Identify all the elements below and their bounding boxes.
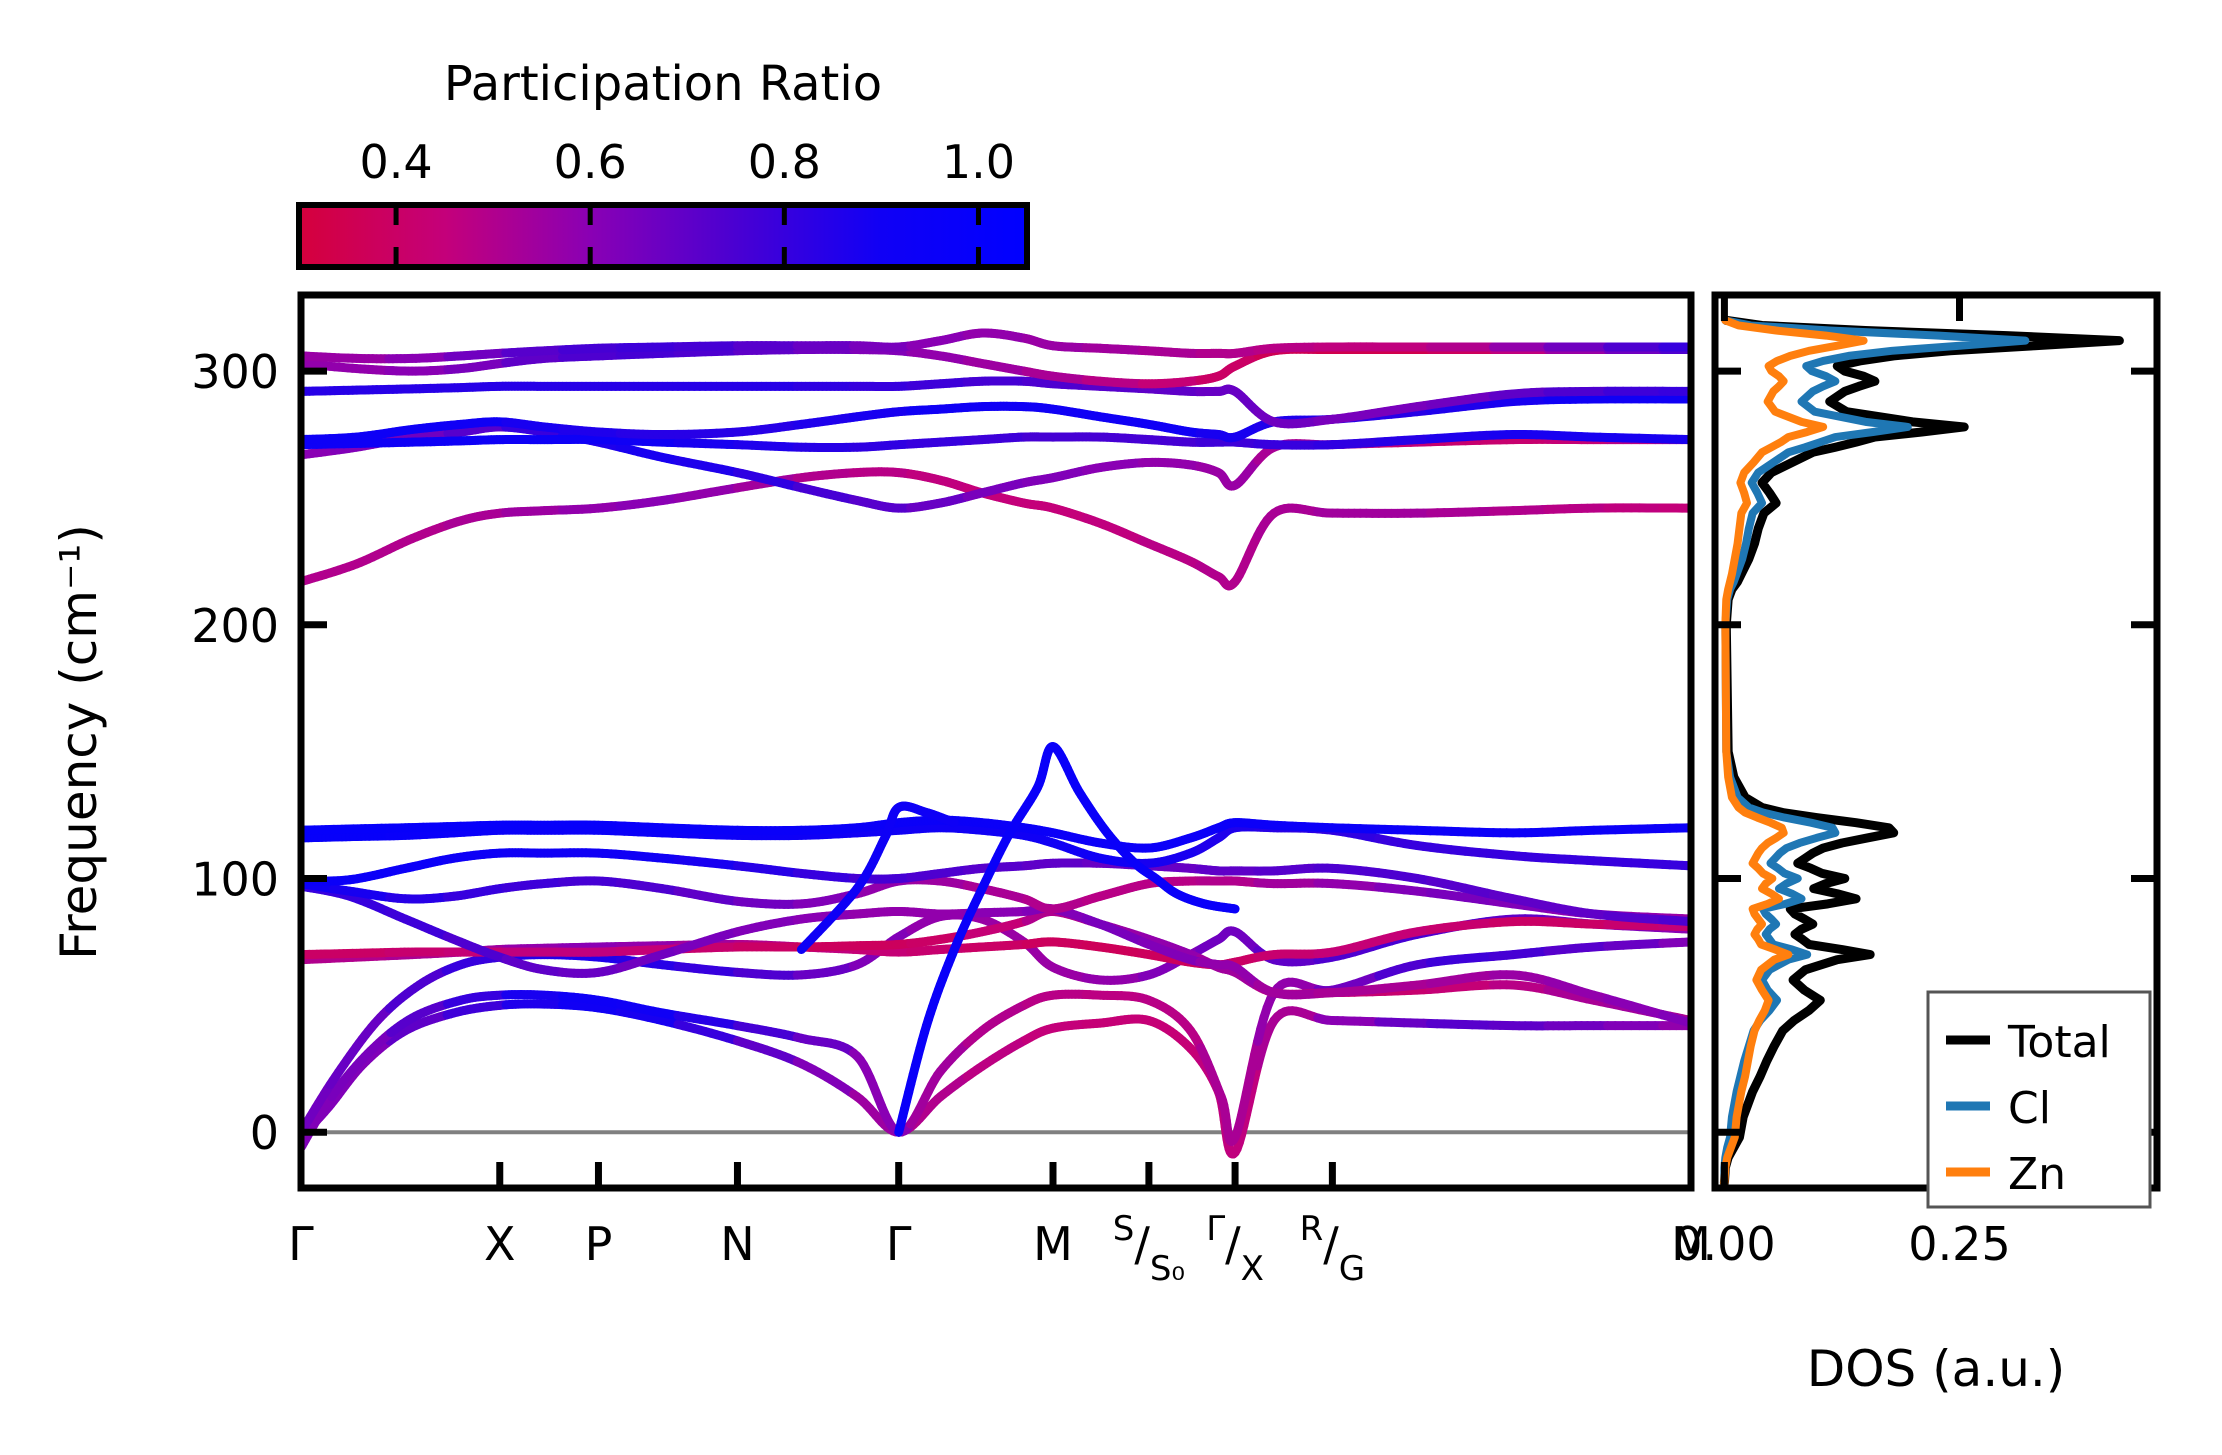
figure-root: Participation Ratio 0.40.60.81.0 0100200… — [0, 0, 2222, 1455]
colorbar-tick-label: 0.4 — [359, 135, 432, 189]
colorbar-tick-label: 0.6 — [554, 135, 627, 189]
colorbar-gradient — [299, 205, 1027, 267]
colorbar-tick-label: 0.8 — [748, 135, 821, 189]
colorbar-title: Participation Ratio — [444, 56, 882, 112]
phonon-figure: Participation Ratio 0.40.60.81.0 0100200… — [0, 0, 2222, 1455]
colorbar-tick-label: 1.0 — [942, 135, 1015, 189]
